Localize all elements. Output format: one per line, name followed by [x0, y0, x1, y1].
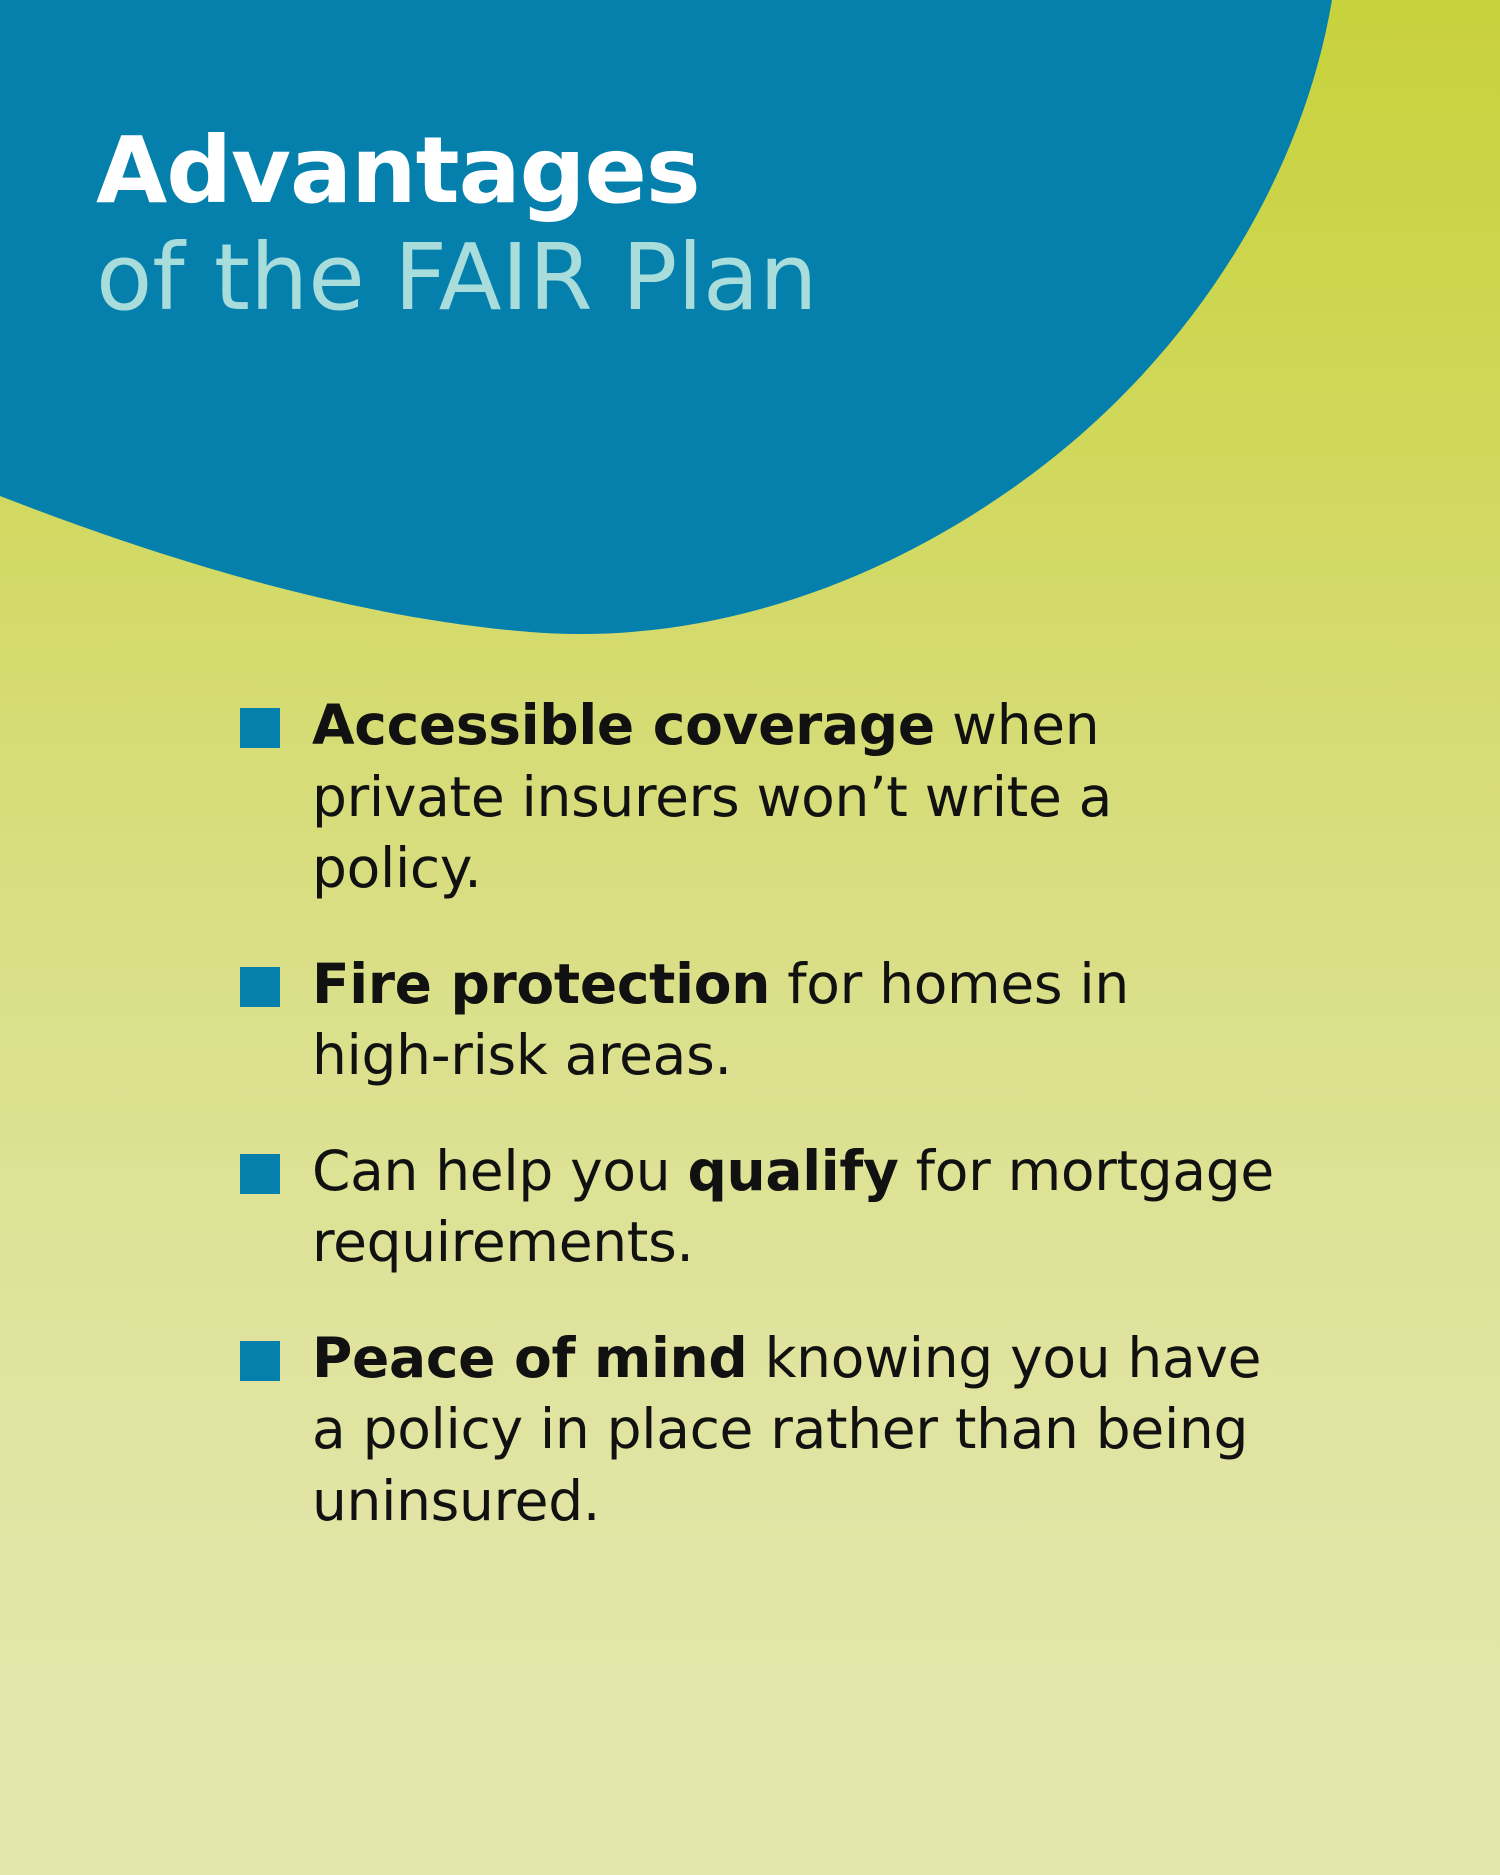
poster-header: Advantages of the FAIR Plan	[96, 124, 1096, 327]
list-item-emphasis: qualify	[687, 1139, 898, 1203]
list-item-text: Can help you qualify for mortgage requir…	[312, 1136, 1280, 1279]
square-bullet-icon	[240, 1154, 280, 1194]
list-item-lead: Accessible coverage	[312, 693, 935, 757]
square-bullet-icon	[240, 1341, 280, 1381]
square-bullet-icon	[240, 967, 280, 1007]
page-title-line-1: Advantages	[96, 124, 1096, 218]
advantages-list: Accessible coverage when private insurer…	[240, 690, 1280, 1537]
square-bullet-icon	[240, 708, 280, 748]
list-item: Fire protection for homes in high-risk a…	[240, 949, 1280, 1092]
list-item-lead: Fire protection	[312, 952, 770, 1016]
list-item-text: Fire protection for homes in high-risk a…	[312, 949, 1280, 1092]
list-item: Peace of mind knowing you have a policy …	[240, 1323, 1280, 1538]
list-item-text: Peace of mind knowing you have a policy …	[312, 1323, 1280, 1538]
list-item-pre: Can help you	[312, 1139, 687, 1203]
list-item: Accessible coverage when private insurer…	[240, 690, 1280, 905]
poster-canvas: Advantages of the FAIR Plan Accessible c…	[0, 0, 1500, 1875]
list-item: Can help you qualify for mortgage requir…	[240, 1136, 1280, 1279]
list-item-lead: Peace of mind	[312, 1326, 747, 1390]
list-item-text: Accessible coverage when private insurer…	[312, 690, 1280, 905]
page-title-line-2: of the FAIR Plan	[96, 228, 1096, 327]
